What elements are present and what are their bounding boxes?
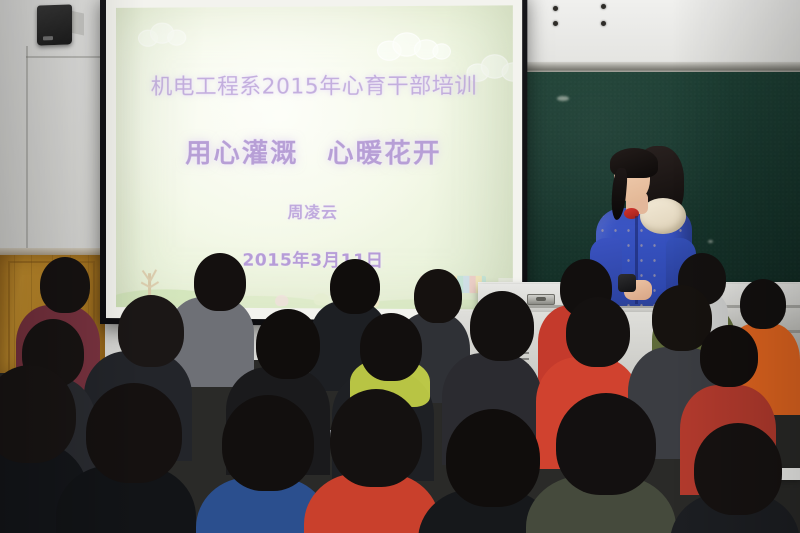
photo-vignette	[0, 0, 800, 533]
classroom-photo: 机电工程系2015年心育干部培训 用心灌溉 心暖花开 周凌云 2015年3月11…	[0, 0, 800, 533]
